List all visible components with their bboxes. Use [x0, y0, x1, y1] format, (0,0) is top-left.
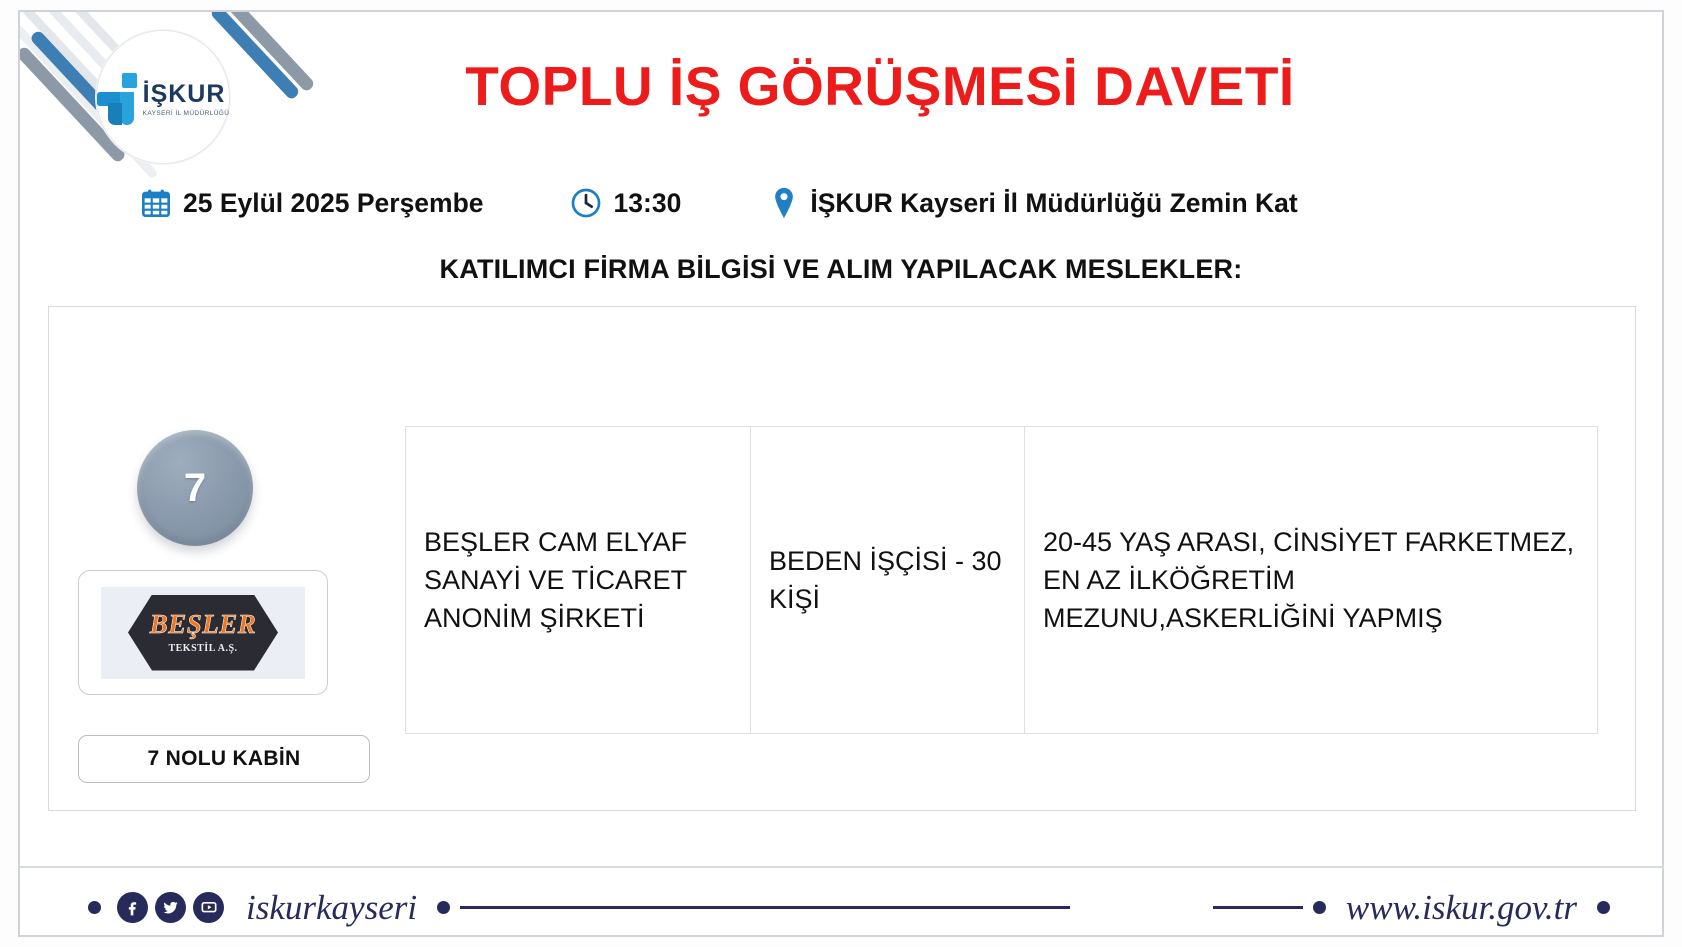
bullet-dot-mid: [437, 901, 450, 914]
section-title: KATILIMCI FİRMA BİLGİSİ VE ALIM YAPILACA…: [0, 254, 1682, 285]
event-time-text: 13:30: [614, 188, 682, 219]
social-icons: [117, 892, 224, 923]
iskur-logo: İŞKUR KAYSERİ İL MÜDÜRLÜĞÜ: [96, 30, 230, 164]
footer-rule-left: [460, 906, 1070, 909]
entry-number-badge: 7: [137, 430, 253, 546]
event-location-text: İŞKUR Kayseri İl Müdürlüğü Zemin Kat: [810, 188, 1297, 219]
clock-icon: [569, 186, 603, 220]
page-title: TOPLU İŞ GÖRÜŞMESİ DAVETİ: [380, 57, 1380, 116]
firm-logo-box: BEŞLER TEKSTİL A.Ş.: [78, 570, 328, 695]
table-cell-requirements: 20-45 YAŞ ARASI, CİNSİYET FARKETMEZ, EN …: [1025, 427, 1597, 733]
besler-subtitle: TEKSTİL A.Ş.: [168, 644, 237, 654]
cabin-label-box: 7 NOLU KABİN: [78, 735, 370, 783]
footer: iskurkayseri www.iskur.gov.tr: [0, 872, 1682, 942]
besler-logo: BEŞLER TEKSTİL A.Ş.: [128, 595, 278, 671]
besler-wordmark: BEŞLER: [150, 611, 257, 638]
facebook-icon[interactable]: [117, 892, 148, 923]
iskur-mark-icon: [97, 73, 139, 125]
bullet-dot-right: [1597, 901, 1610, 914]
entry-number-text: 7: [184, 466, 206, 511]
event-date-text: 25 Eylül 2025 Perşembe: [183, 188, 484, 219]
footer-social-group: iskurkayseri: [88, 872, 1070, 942]
calendar-icon: [140, 187, 172, 219]
event-date: 25 Eylül 2025 Perşembe: [140, 187, 484, 219]
bullet-dot-before-site: [1313, 901, 1326, 914]
table-cell-job: BEDEN İŞÇİSİ - 30 KİŞİ: [751, 427, 1025, 733]
firm-info-table: BEŞLER CAM ELYAF SANAYİ VE TİCARET ANONİ…: [405, 426, 1598, 734]
logo-wordmark: İŞKUR: [143, 82, 226, 107]
website-text: www.iskur.gov.tr: [1346, 890, 1577, 925]
map-pin-icon: [769, 186, 799, 220]
event-location: İŞKUR Kayseri İl Müdürlüğü Zemin Kat: [769, 186, 1297, 220]
footer-divider: [20, 866, 1664, 868]
poster-root: İŞKUR KAYSERİ İL MÜDÜRLÜĞÜ TOPLU İŞ GÖRÜ…: [0, 0, 1682, 947]
bullet-dot-left: [88, 901, 101, 914]
cabin-label-text: 7 NOLU KABİN: [148, 747, 301, 771]
event-meta-row: 25 Eylül 2025 Perşembe 13:30 İŞKUR: [140, 180, 1540, 226]
twitter-icon[interactable]: [155, 892, 186, 923]
footer-website-group: www.iskur.gov.tr: [1213, 872, 1610, 942]
table-cell-company: BEŞLER CAM ELYAF SANAYİ VE TİCARET ANONİ…: [406, 427, 751, 733]
event-time: 13:30: [569, 186, 682, 220]
footer-rule-right: [1213, 906, 1303, 909]
youtube-icon[interactable]: [193, 892, 224, 923]
social-handle: iskurkayseri: [246, 890, 417, 925]
logo-subtitle: KAYSERİ İL MÜDÜRLÜĞÜ: [143, 110, 230, 117]
